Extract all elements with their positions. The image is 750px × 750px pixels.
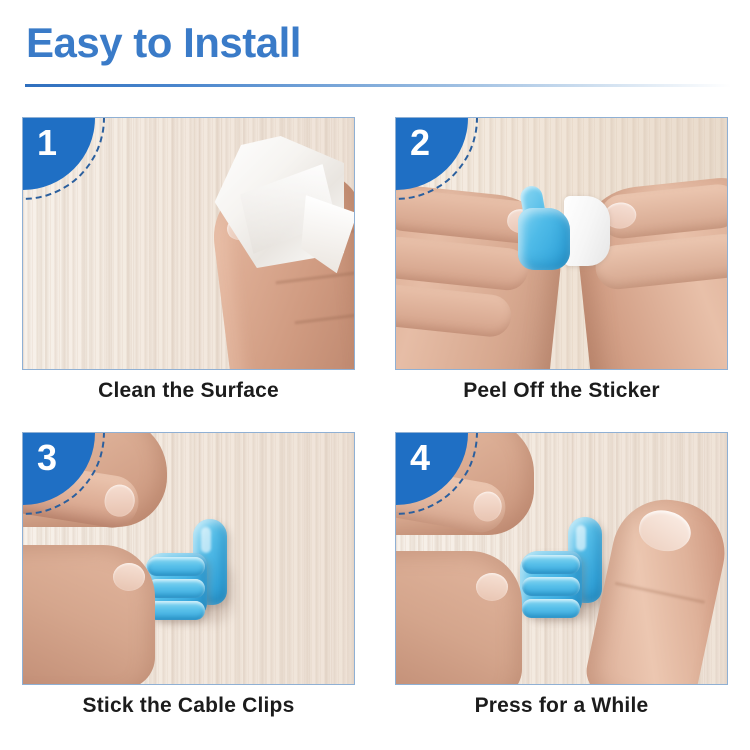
title-underline-rule bbox=[25, 84, 731, 87]
clip-highlight bbox=[201, 527, 211, 553]
thumbnail bbox=[113, 563, 145, 591]
finger bbox=[396, 283, 513, 339]
finger bbox=[593, 232, 727, 291]
step-1-photo-frame: 1 bbox=[22, 117, 355, 370]
step-4-caption: Press for a While bbox=[395, 694, 728, 718]
thumb bbox=[23, 545, 155, 684]
step-badge-3: 3 bbox=[23, 433, 109, 519]
blue-cable-clip bbox=[518, 186, 574, 270]
step-badge-1: 1 bbox=[23, 118, 109, 204]
step-number: 1 bbox=[37, 125, 57, 161]
badge-fill bbox=[396, 118, 468, 190]
step-card-1: 1 Clean the Surface bbox=[22, 117, 355, 422]
page-title: Easy to Install bbox=[26, 22, 301, 64]
step-3-caption: Stick the Cable Clips bbox=[22, 694, 355, 718]
knuckle-crease bbox=[275, 271, 354, 284]
step-2-caption: Peel Off the Sticker bbox=[395, 379, 728, 403]
step-2-photo-frame: 2 bbox=[395, 117, 728, 370]
step-number: 2 bbox=[410, 125, 430, 161]
step-card-4: 4 Press for a While bbox=[395, 432, 728, 737]
finger bbox=[396, 235, 530, 292]
clip-body bbox=[518, 208, 570, 270]
badge-fill bbox=[23, 433, 95, 505]
step-card-3: 3 Stick the Cable Clips bbox=[22, 432, 355, 737]
step-badge-4: 4 bbox=[396, 433, 482, 519]
badge-fill bbox=[23, 118, 95, 190]
thumbnail bbox=[476, 573, 508, 601]
step-1-caption: Clean the Surface bbox=[22, 379, 355, 403]
knuckle-crease bbox=[294, 313, 354, 325]
fingernail bbox=[635, 506, 694, 556]
page-header: Easy to Install bbox=[0, 0, 750, 100]
thumb bbox=[396, 551, 522, 684]
clip-highlight bbox=[576, 525, 586, 551]
step-number: 3 bbox=[37, 440, 57, 476]
step-4-photo-frame: 4 bbox=[395, 432, 728, 685]
step-3-photo-frame: 3 bbox=[22, 432, 355, 685]
badge-fill bbox=[396, 433, 468, 505]
step-number: 4 bbox=[410, 440, 430, 476]
step-card-2: 2 Peel Off the Sticker bbox=[395, 117, 728, 422]
install-steps-grid: 1 Clean the Surface bbox=[22, 117, 728, 737]
step-badge-2: 2 bbox=[396, 118, 482, 204]
finger-crease bbox=[615, 582, 706, 604]
